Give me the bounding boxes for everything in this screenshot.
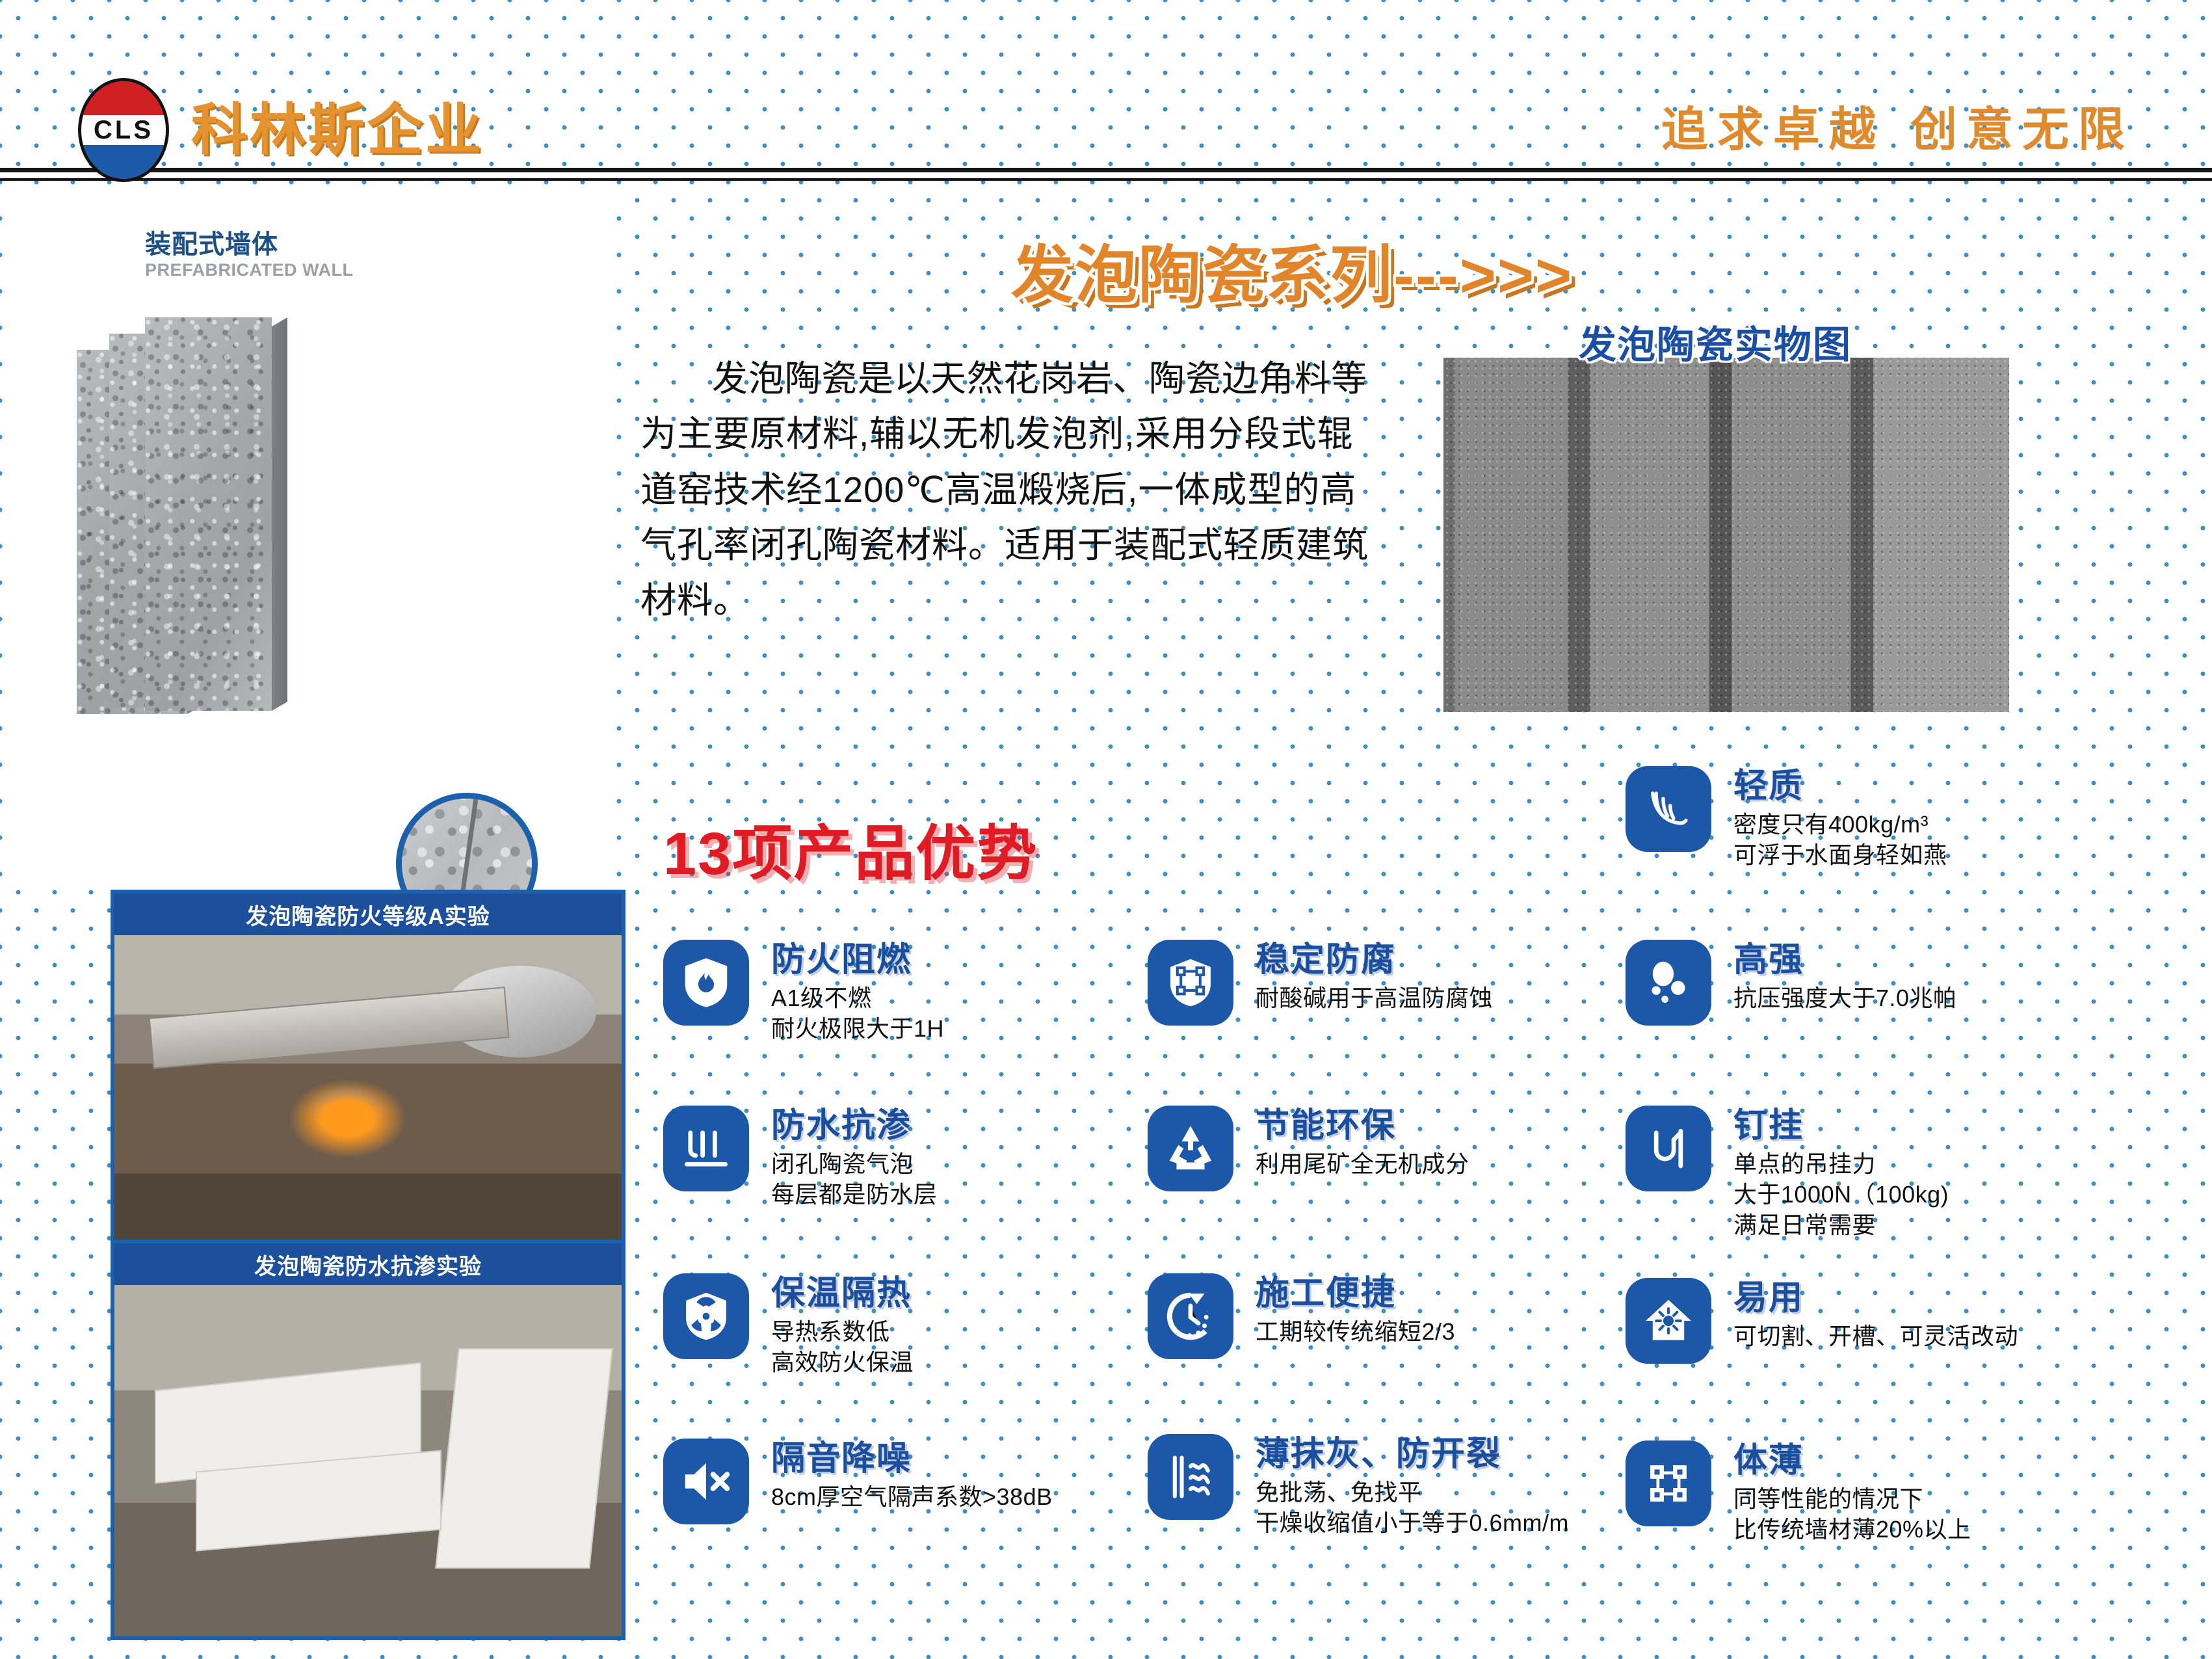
feature-title: 保温隔热: [771, 1275, 914, 1312]
feature-soundproof: 隔音降噪 8cm厚空气隔声系数>38dB: [663, 1439, 1053, 1524]
feature-title: 防水抗渗: [771, 1107, 938, 1145]
logo-band: CLS: [78, 115, 169, 145]
feature-thin-plaster: 薄抹灰、防开裂 免批荡、免找平 干燥收缩值小于等于0.6mm/m: [1148, 1434, 1569, 1539]
brand-logo: CLS 科林斯企业: [78, 78, 484, 182]
thin-frame-icon: [1626, 1440, 1711, 1526]
feature-desc: 密度只有400kg/m³ 可浮于水面身轻如燕: [1733, 810, 1947, 871]
feature-desc: 闭孔陶瓷气泡 每层都是防水层: [771, 1149, 938, 1210]
wall-slab-3: [145, 317, 272, 711]
company-name: 科林斯企业: [191, 102, 484, 158]
header-slogan: 追求卓越 创意无限: [1661, 91, 2134, 159]
feature-title: 轻质: [1733, 767, 1947, 805]
hook-nail-icon: [1626, 1106, 1711, 1191]
cls-logo-icon: CLS: [78, 78, 169, 182]
feature-title: 防火阻燃: [771, 941, 944, 979]
water-layers-icon: [663, 1106, 749, 1191]
fire-shield-icon: [663, 940, 749, 1026]
feature-desc: 利用尾矿全无机成分: [1256, 1149, 1469, 1180]
feature-high-strength: 高强 抗压强度大于7.0兆帕: [1626, 940, 1957, 1026]
section-title: 发泡陶瓷系列--->>>: [1011, 224, 1573, 315]
feature-easy-use: 易用 可切割、开槽、可灵活改动: [1626, 1278, 2018, 1364]
feature-title: 薄抹灰、防开裂: [1256, 1435, 1569, 1473]
advantages-heading: 13项产品优势: [663, 805, 1038, 892]
photo-fire-test-caption: 发泡陶瓷防火等级A实验: [114, 894, 622, 935]
feature-corrosion-resistant: 稳定防腐 耐酸碱用于高温防腐蚀: [1148, 940, 1493, 1026]
feature-thermal-insulation: 保温隔热 导热系数低 高效防火保温: [663, 1273, 914, 1378]
feature-title: 体薄: [1733, 1442, 1971, 1480]
logo-mark-text: CLS: [94, 117, 153, 143]
prefab-wall-card: 装配式墙体 PREFABRICATED WALL: [12, 187, 616, 877]
feature-nail-hanging: 钉挂 单点的吊挂力 大于1000N（100kg) 满足日常需要: [1626, 1106, 1949, 1241]
mute-speaker-icon: [663, 1439, 749, 1524]
feature-desc: 同等性能的情况下 比传统墙材薄20%以上: [1733, 1484, 1971, 1545]
house-sun-icon: [1626, 1278, 1711, 1364]
feature-fire-resistant: 防火阻燃 A1级不燃 耐火极限大于1H: [663, 940, 944, 1044]
feature-desc: 导热系数低 高效防火保温: [771, 1317, 914, 1378]
feature-waterproof: 防水抗渗 闭孔陶瓷气泡 每层都是防水层: [663, 1106, 938, 1210]
wall-card-title-en: PREFABRICATED WALL: [145, 260, 354, 280]
photo-fire-test-image: [114, 935, 622, 1241]
feature-eco-friendly: 节能环保 利用尾矿全无机成分: [1148, 1106, 1469, 1191]
feature-desc: A1级不燃 耐火极限大于1H: [771, 983, 944, 1044]
feature-lightweight: 轻质 密度只有400kg/m³ 可浮于水面身轻如燕: [1626, 766, 1947, 871]
feature-desc: 可切割、开槽、可灵活改动: [1733, 1321, 2018, 1352]
photo-water-test-image: [114, 1285, 622, 1636]
recycle-icon: [1148, 1106, 1233, 1191]
feature-desc: 抗压强度大于7.0兆帕: [1733, 983, 1957, 1014]
feature-title: 施工便捷: [1256, 1275, 1455, 1312]
photo-fire-test: 发泡陶瓷防火等级A实验: [111, 890, 625, 1245]
feature-title: 隔音降噪: [771, 1440, 1053, 1478]
feature-desc: 工期较传统缩短2/3: [1256, 1317, 1455, 1347]
feature-title: 钉挂: [1733, 1107, 1949, 1145]
foam-ceramic-photo-caption: 发泡陶瓷实物图: [1579, 314, 1852, 369]
feature-desc: 免批荡、免找平 干燥收缩值小于等于0.6mm/m: [1256, 1478, 1569, 1539]
feature-title: 稳定防腐: [1256, 941, 1493, 979]
feature-thin-body: 体薄 同等性能的情况下 比传统墙材薄20%以上: [1626, 1440, 1971, 1545]
feature-desc: 单点的吊挂力 大于1000N（100kg) 满足日常需要: [1733, 1149, 1949, 1240]
plaster-waves-icon: [1148, 1434, 1233, 1520]
feature-title: 易用: [1733, 1279, 2018, 1317]
feather-icon: [1626, 766, 1711, 852]
thermal-shield-icon: [663, 1273, 749, 1359]
photo-water-test-caption: 发泡陶瓷防水抗渗实验: [114, 1243, 622, 1285]
product-description: 发泡陶瓷是以天然花岗岩、陶瓷边角料等为主要原材料,辅以无机发泡剂,采用分段式辊道…: [640, 351, 1388, 628]
feature-title: 高强: [1733, 941, 1957, 979]
shield-frame-icon: [1148, 940, 1233, 1026]
feature-fast-construction: 施工便捷 工期较传统缩短2/3: [1148, 1273, 1455, 1359]
photo-water-test: 发泡陶瓷防水抗渗实验: [111, 1240, 625, 1640]
feature-desc: 8cm厚空气隔声系数>38dB: [771, 1482, 1053, 1513]
clock-arrow-icon: [1148, 1273, 1233, 1359]
wall-card-title-cn: 装配式墙体: [145, 223, 278, 261]
feature-title: 节能环保: [1256, 1107, 1469, 1145]
foam-ceramic-photo: [1443, 358, 2009, 712]
feature-desc: 耐酸碱用于高温防腐蚀: [1256, 983, 1493, 1014]
bubbles-icon: [1626, 940, 1711, 1026]
